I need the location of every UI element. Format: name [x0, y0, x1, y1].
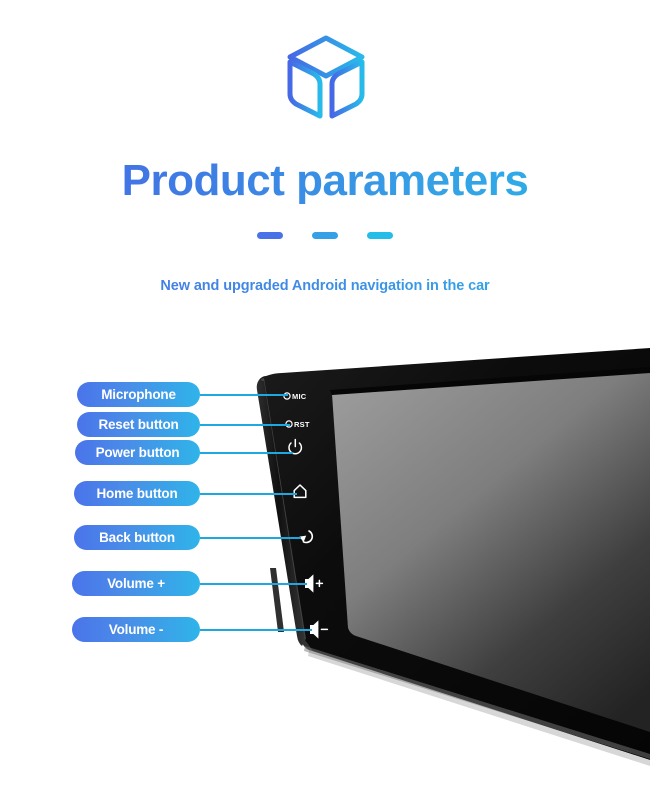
callout-leader-power-button: [200, 452, 293, 454]
callout-pill-volume-up[interactable]: Volume +: [72, 571, 200, 596]
callout-leader-volume-up: [200, 583, 307, 585]
callout-reset-button[interactable]: Reset button: [77, 412, 290, 437]
product-parameters-page: Product parameters New and upgraded Andr…: [0, 0, 650, 806]
title-dash-2: [312, 232, 338, 239]
page-subtitle: New and upgraded Android navigation in t…: [0, 278, 650, 294]
callout-power-button[interactable]: Power button: [75, 440, 293, 465]
callout-label-back-button: Back button: [99, 530, 175, 545]
callout-leader-microphone: [200, 394, 288, 396]
callout-pill-volume-down[interactable]: Volume -: [72, 617, 200, 642]
callout-microphone[interactable]: Microphone: [77, 382, 288, 407]
title-dash-3: [367, 232, 393, 239]
title-dashes: [0, 232, 650, 239]
callout-label-microphone: Microphone: [101, 387, 176, 402]
callout-leader-reset-button: [200, 424, 290, 426]
callout-pill-back-button[interactable]: Back button: [74, 525, 200, 550]
cube-icon: [284, 32, 368, 120]
callout-volume-up[interactable]: Volume +: [72, 571, 307, 596]
callout-label-reset-button: Reset button: [98, 417, 178, 432]
svg-text:RST: RST: [294, 420, 310, 429]
title-dash-1: [257, 232, 283, 239]
callout-pill-microphone[interactable]: Microphone: [77, 382, 200, 407]
callout-pill-home-button[interactable]: Home button: [74, 481, 200, 506]
callout-back-button[interactable]: Back button: [74, 525, 301, 550]
callout-pill-reset-button[interactable]: Reset button: [77, 412, 200, 437]
callout-label-home-button: Home button: [96, 486, 177, 501]
callout-label-volume-up: Volume +: [107, 576, 165, 591]
callout-label-power-button: Power button: [96, 445, 180, 460]
callout-leader-back-button: [200, 537, 301, 539]
callout-home-button[interactable]: Home button: [74, 481, 297, 506]
callout-leader-home-button: [200, 493, 297, 495]
svg-text:MIC: MIC: [292, 392, 307, 401]
callout-leader-volume-down: [200, 629, 312, 631]
callout-pill-power-button[interactable]: Power button: [75, 440, 200, 465]
callout-label-volume-down: Volume -: [109, 622, 163, 637]
page-title: Product parameters: [0, 152, 650, 210]
callout-volume-down[interactable]: Volume -: [72, 617, 312, 642]
